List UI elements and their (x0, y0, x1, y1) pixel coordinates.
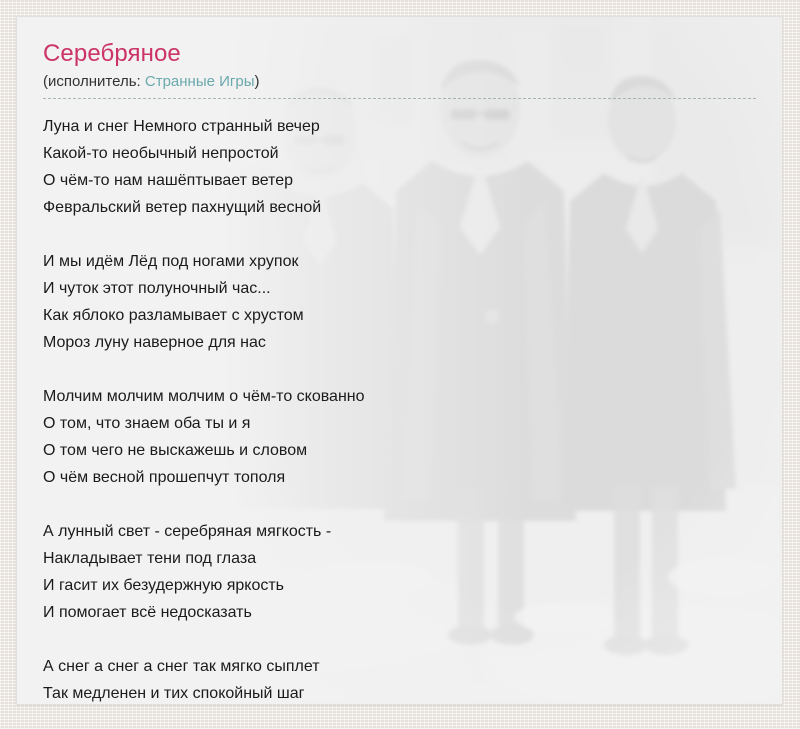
card-content: Серебряное (исполнитель: Странные Игры) … (17, 17, 782, 705)
artist-prefix-label: (исполнитель: (43, 73, 145, 90)
lyric-line: О чём весной прошепчут тополя (43, 464, 756, 491)
lyrics-stanza: А лунный свет - серебряная мягкость -Нак… (43, 518, 756, 626)
lyric-line: Молчим молчим молчим о чём-то скованно (43, 383, 756, 410)
lyric-line: Мороз луну наверное для нас (43, 329, 756, 356)
artist-suffix-label: ) (255, 73, 260, 90)
artist-link[interactable]: Странные Игры (145, 73, 255, 90)
lyric-line: И помогает всё недосказать (43, 599, 756, 626)
lyric-line: И мы идём Лёд под ногами хрупок (43, 248, 756, 275)
lyric-line: А снег а снег а снег так мягко сыплет (43, 653, 756, 680)
lyric-line: Так медленен и тих спокойный шаг (43, 680, 756, 705)
lyric-line: О чём-то нам нашёптывает ветер (43, 167, 756, 194)
page-title: Серебряное (43, 39, 756, 69)
artist-line: (исполнитель: Странные Игры) (43, 72, 756, 92)
lyrics-body: Луна и снег Немного странный вечерКакой-… (43, 113, 756, 705)
lyric-line: И гасит их безудержную яркость (43, 572, 756, 599)
lyric-line: О том чего не выскажешь и словом (43, 437, 756, 464)
lyrics-stanza: Луна и снег Немного странный вечерКакой-… (43, 113, 756, 221)
lyrics-stanza: Молчим молчим молчим о чём-то скованноО … (43, 383, 756, 491)
lyric-line: О том, что знаем оба ты и я (43, 410, 756, 437)
lyric-line: А лунный свет - серебряная мягкость - (43, 518, 756, 545)
lyric-line: Луна и снег Немного странный вечер (43, 113, 756, 140)
header-divider (43, 98, 756, 99)
lyric-line: Как яблоко разламывает с хрустом (43, 302, 756, 329)
lyrics-card: Серебряное (исполнитель: Странные Игры) … (16, 16, 783, 705)
lyric-line: И чуток этот полуночный час... (43, 275, 756, 302)
lyric-line: Какой-то необычный непростой (43, 140, 756, 167)
lyric-line: Накладывает тени под глаза (43, 545, 756, 572)
lyrics-stanza: А снег а снег а снег так мягко сыплетТак… (43, 653, 756, 705)
page-frame: Серебряное (исполнитель: Странные Игры) … (0, 0, 800, 729)
lyric-line: Февральский ветер пахнущий весной (43, 194, 756, 221)
lyrics-stanza: И мы идём Лёд под ногами хрупокИ чуток э… (43, 248, 756, 356)
